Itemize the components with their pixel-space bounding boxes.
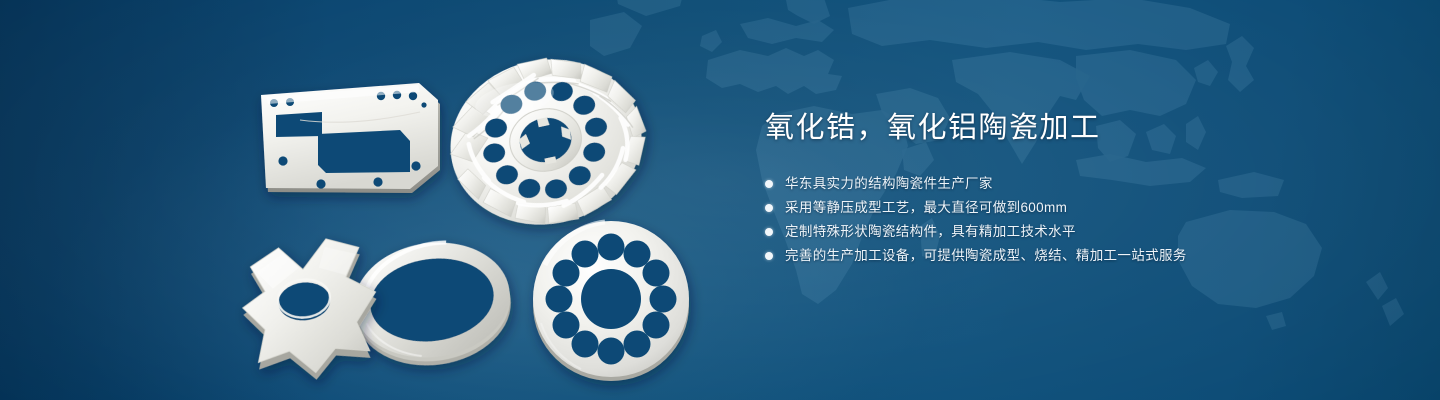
list-item-label: 采用等静压成型工艺，最大直径可做到600mm [785, 196, 1067, 220]
bullet-dot-icon [765, 204, 773, 212]
banner-copy: 氧化锆，氧化铝陶瓷加工 华东具实力的结构陶瓷件生产厂家 采用等静压成型工艺，最大… [765, 108, 1405, 268]
feature-list: 华东具实力的结构陶瓷件生产厂家 采用等静压成型工艺，最大直径可做到600mm 定… [765, 172, 1405, 268]
ceramic-products-banner: 氧化锆，氧化铝陶瓷加工 华东具实力的结构陶瓷件生产厂家 采用等静压成型工艺，最大… [0, 0, 1440, 400]
list-item-label: 华东具实力的结构陶瓷件生产厂家 [785, 172, 993, 196]
list-item: 采用等静压成型工艺，最大直径可做到600mm [765, 196, 1405, 220]
list-item: 定制特殊形状陶瓷结构件，具有精加工技术水平 [765, 220, 1405, 244]
list-item: 完善的生产加工设备，可提供陶瓷成型、烧结、精加工一站式服务 [765, 244, 1405, 268]
bullet-dot-icon [765, 180, 773, 188]
bullet-dot-icon [765, 228, 773, 236]
page-title: 氧化锆，氧化铝陶瓷加工 [765, 108, 1405, 148]
list-item-label: 定制特殊形状陶瓷结构件，具有精加工技术水平 [785, 220, 1076, 244]
list-item: 华东具实力的结构陶瓷件生产厂家 [765, 172, 1405, 196]
list-item-label: 完善的生产加工设备，可提供陶瓷成型、烧结、精加工一站式服务 [785, 244, 1187, 268]
bullet-dot-icon [765, 252, 773, 260]
